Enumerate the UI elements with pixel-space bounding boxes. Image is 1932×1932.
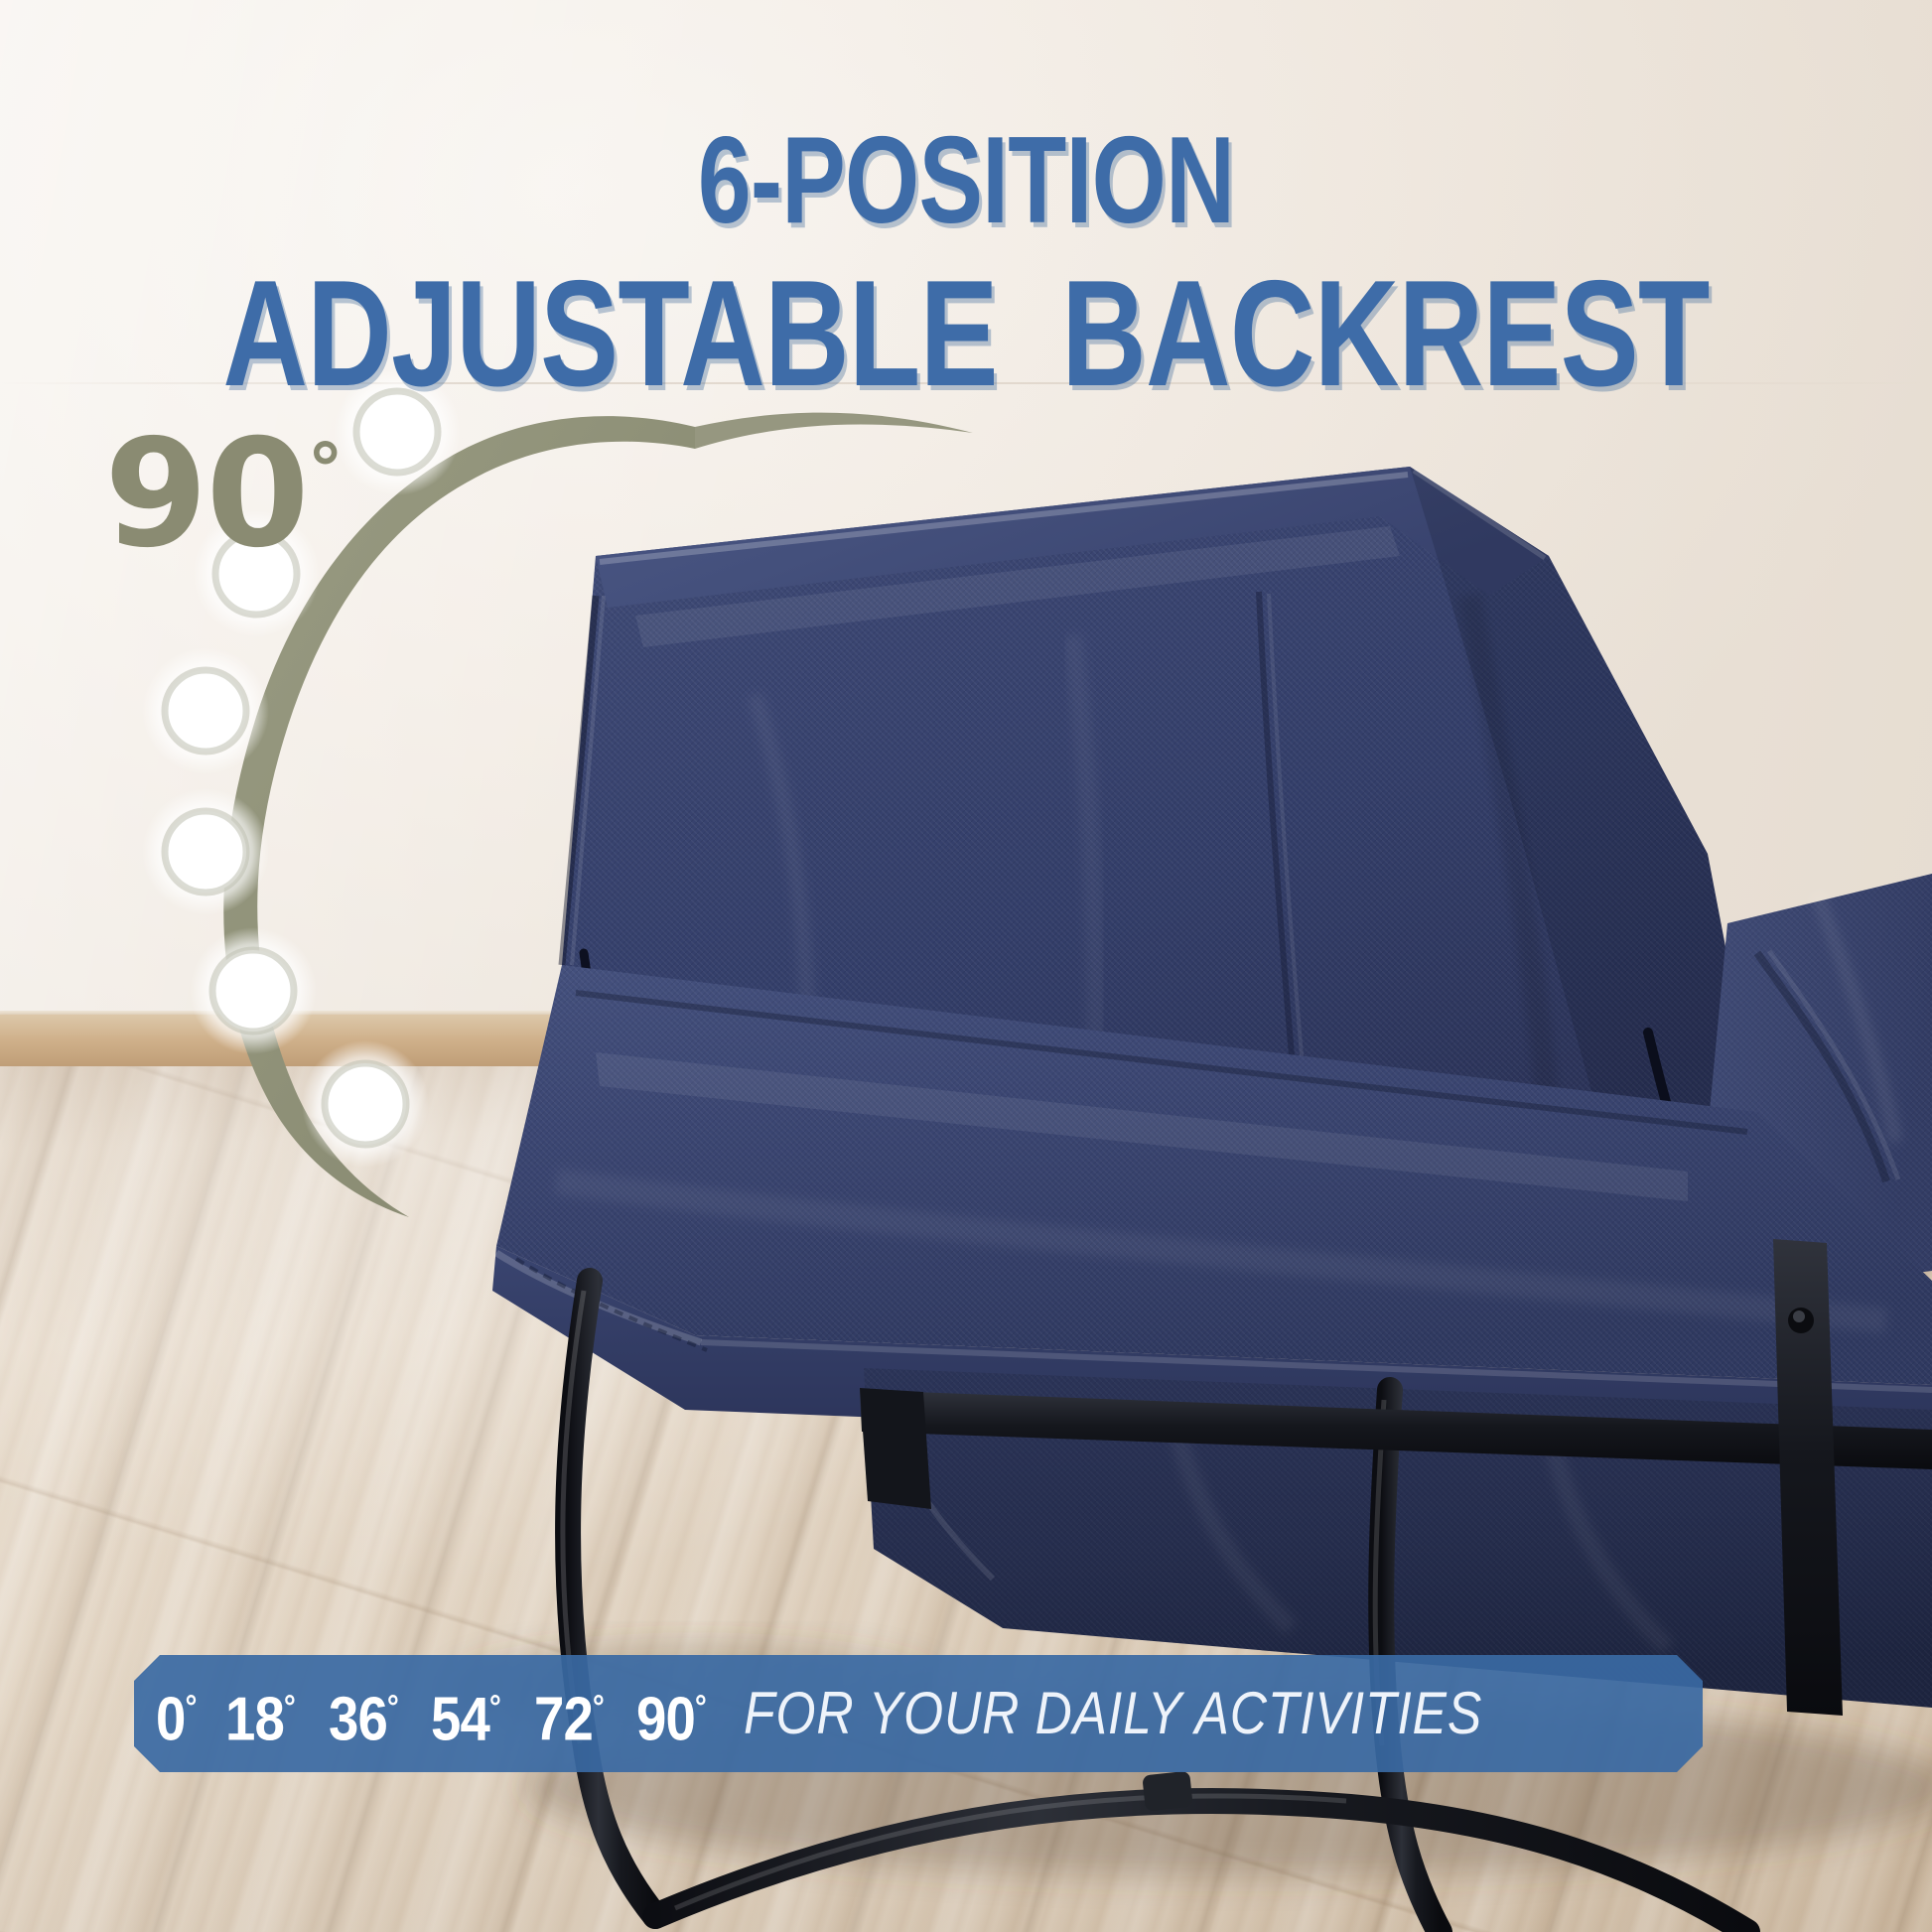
product-feature-image: 90° 6-POSITION ADJUSTABLE BACKREST 0° 18… bbox=[0, 0, 1932, 1932]
angle-value-1: 18 bbox=[225, 1685, 284, 1753]
stop-dot-6 bbox=[302, 1040, 429, 1168]
degree-symbol-2: ° bbox=[387, 1689, 398, 1726]
max-angle-value: 90 bbox=[104, 408, 308, 581]
angle-list: 0° 18° 36° 54° 72° 90° bbox=[156, 1677, 740, 1751]
left-frame-bracket bbox=[860, 1388, 931, 1509]
angle-chip-4: 72° bbox=[534, 1677, 604, 1751]
angle-chip-0: 0° bbox=[156, 1677, 197, 1751]
degree-symbol: ° bbox=[308, 428, 344, 511]
max-angle-label: 90° bbox=[104, 395, 344, 569]
angle-chip-3: 54° bbox=[431, 1677, 500, 1751]
angle-banner: 0° 18° 36° 54° 72° 90° FOR YOUR DAILY AC… bbox=[134, 1655, 1703, 1772]
degree-symbol-3: ° bbox=[489, 1689, 500, 1726]
angle-value-4: 72 bbox=[534, 1685, 593, 1753]
stop-dot-5 bbox=[190, 927, 317, 1054]
angle-chip-1: 18° bbox=[225, 1677, 295, 1751]
stop-dot-1 bbox=[334, 368, 461, 495]
angle-value-5: 90 bbox=[636, 1685, 695, 1753]
stop-dot-3 bbox=[142, 647, 269, 774]
angle-value-3: 54 bbox=[431, 1685, 489, 1753]
angle-chip-5: 90° bbox=[636, 1677, 706, 1751]
angle-chip-2: 36° bbox=[329, 1677, 398, 1751]
angle-value-0: 0 bbox=[156, 1685, 185, 1753]
degree-symbol-4: ° bbox=[593, 1689, 604, 1726]
banner-tagline: FOR YOUR DAILY ACTIVITIES bbox=[744, 1683, 1482, 1744]
stop-dot-4 bbox=[142, 788, 269, 915]
arc-tail bbox=[695, 413, 973, 449]
degree-symbol-0: ° bbox=[185, 1689, 196, 1726]
angle-value-2: 36 bbox=[329, 1685, 387, 1753]
degree-symbol-5: ° bbox=[695, 1689, 706, 1726]
degree-symbol-1: ° bbox=[284, 1689, 295, 1726]
angle-arc-indicator bbox=[0, 0, 1092, 1390]
frame-joint-collar bbox=[1142, 1771, 1193, 1812]
